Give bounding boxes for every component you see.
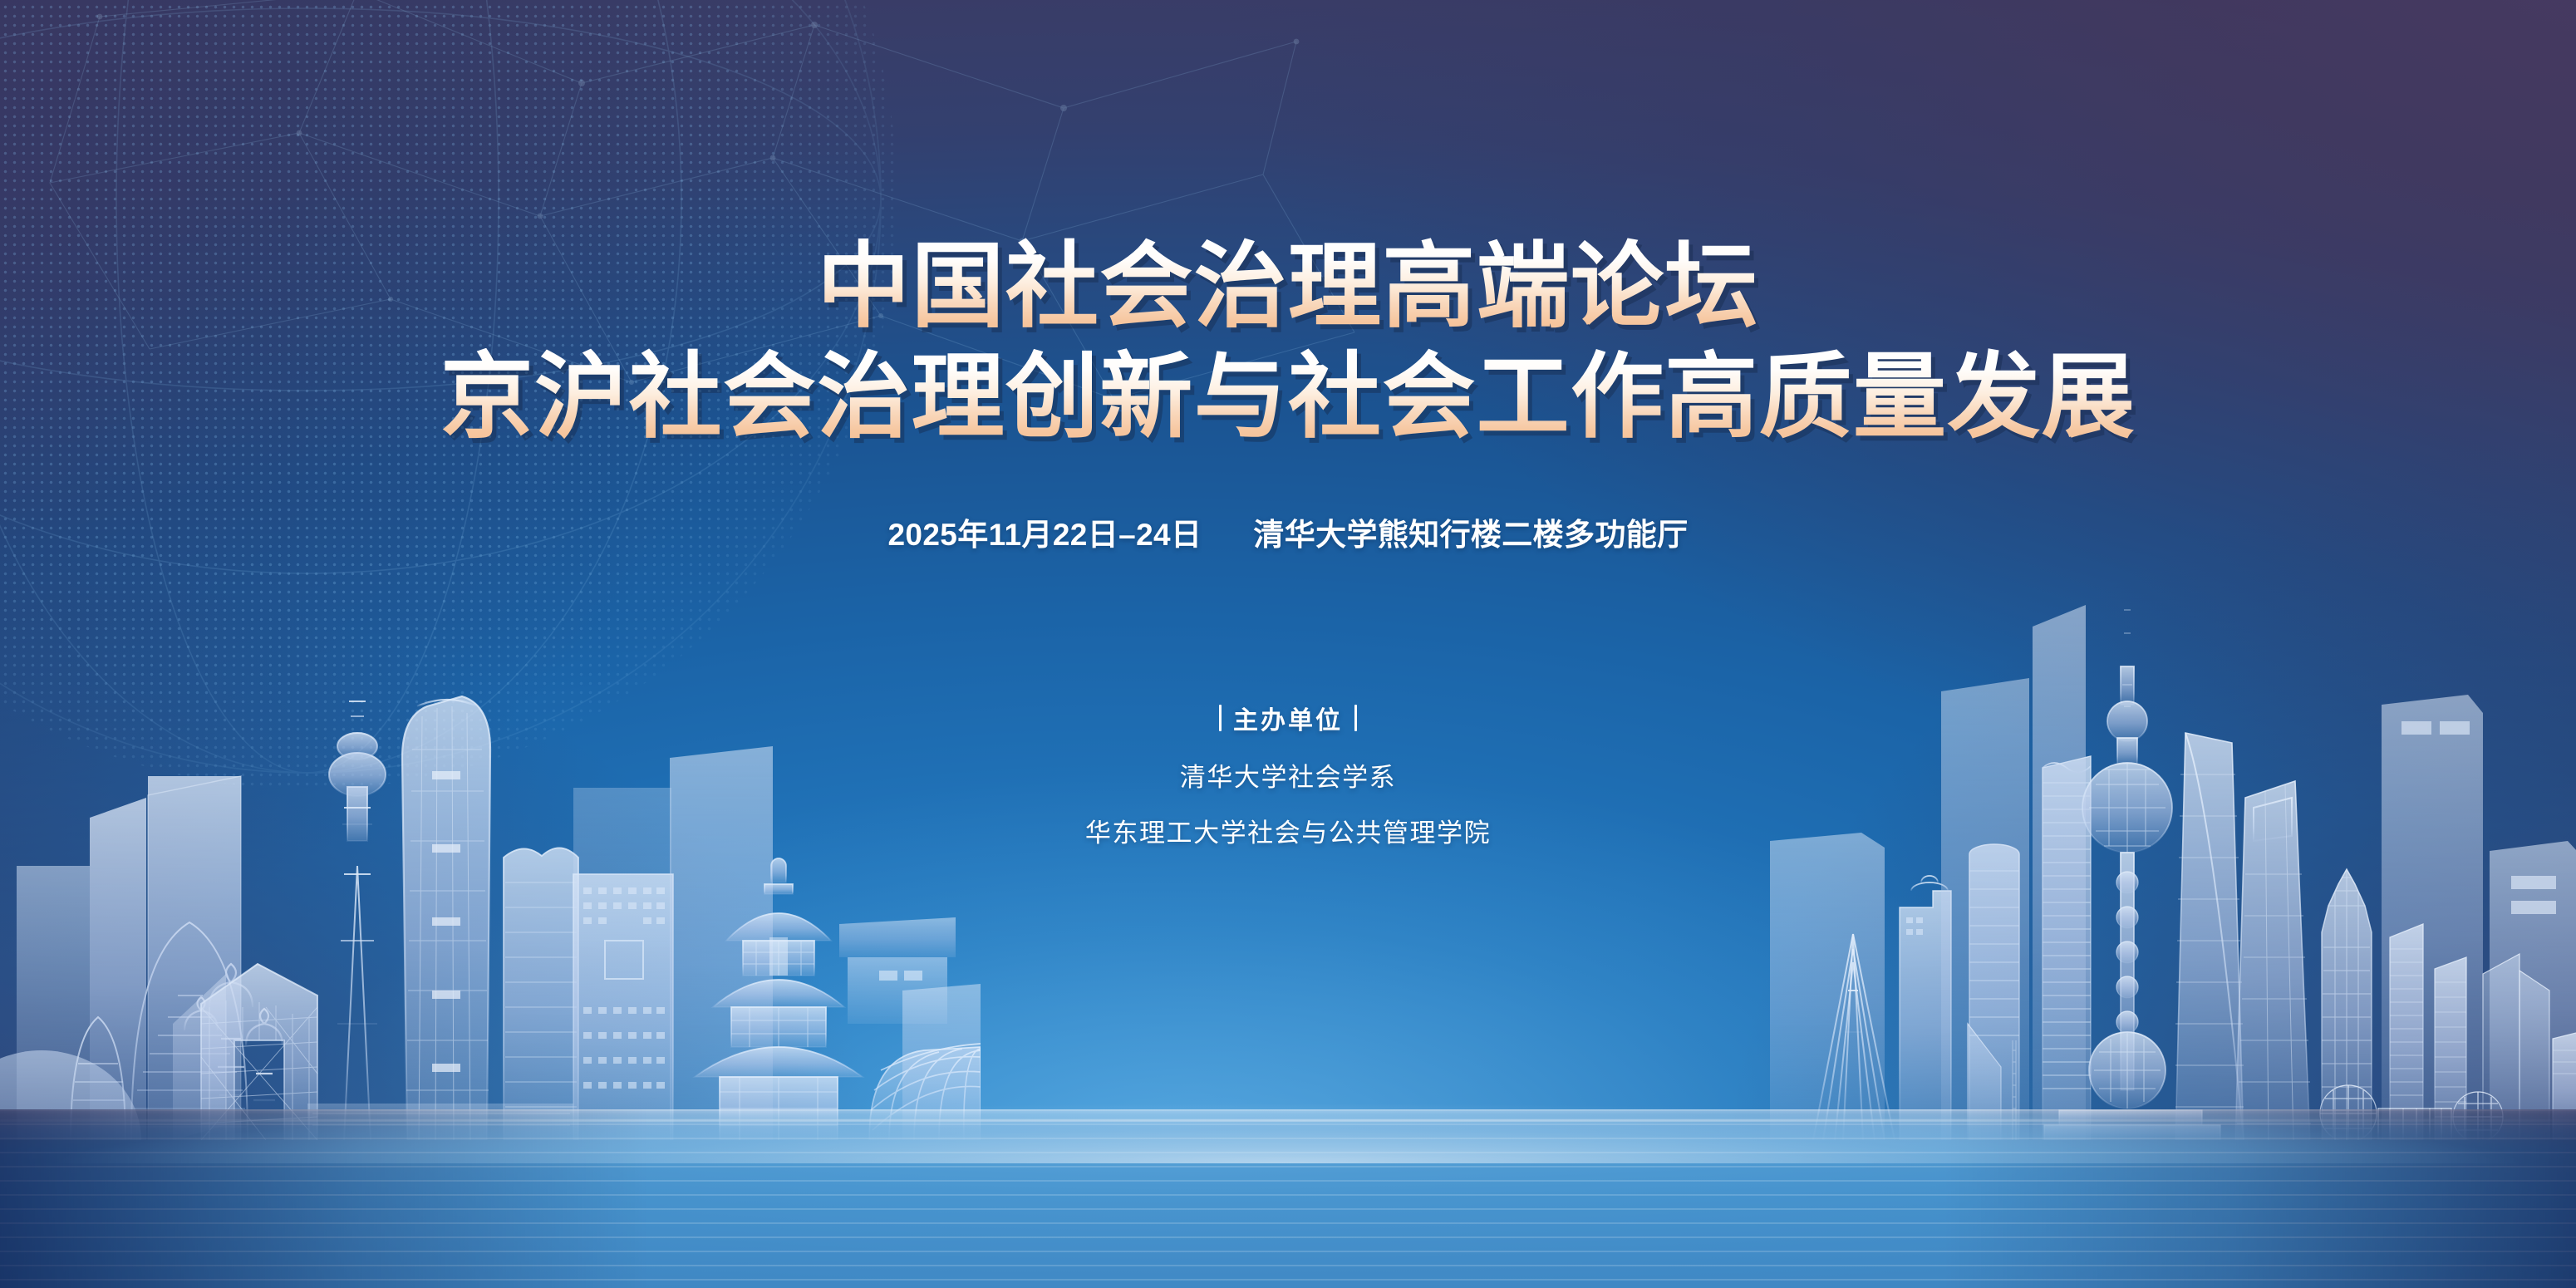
vertical-bar-left-icon: [1219, 705, 1222, 731]
main-title-line-2: 京沪社会治理创新与社会工作高质量发展: [440, 348, 2136, 447]
banner-content: 中国社会治理高端论坛 京沪社会治理创新与社会工作高质量发展 2025年11月22…: [0, 0, 2576, 1288]
main-title-line-1: 中国社会治理高端论坛: [440, 238, 2136, 337]
organizer-name-2: 华东理工大学社会与公共管理学院: [1085, 812, 1491, 849]
title-block: 中国社会治理高端论坛 京沪社会治理创新与社会工作高质量发展: [440, 238, 2136, 446]
event-venue: 清华大学熊知行楼二楼多功能厅: [1253, 509, 1688, 554]
organizer-name-1: 清华大学社会学系: [1085, 756, 1491, 794]
organizer-block: 主办单位 清华大学社会学系 华东理工大学社会与公共管理学院: [1085, 700, 1491, 849]
vertical-bar-right-icon: [1354, 705, 1357, 731]
subtitle-row: 2025年11月22日–24日 清华大学熊知行楼二楼多功能厅: [887, 509, 1688, 554]
event-date: 2025年11月22日–24日: [887, 509, 1202, 554]
conference-banner: 中国社会治理高端论坛 京沪社会治理创新与社会工作高质量发展 2025年11月22…: [0, 0, 2576, 1288]
organizer-heading-label: 主办单位: [1233, 700, 1343, 736]
organizer-heading: 主办单位: [1085, 700, 1491, 736]
